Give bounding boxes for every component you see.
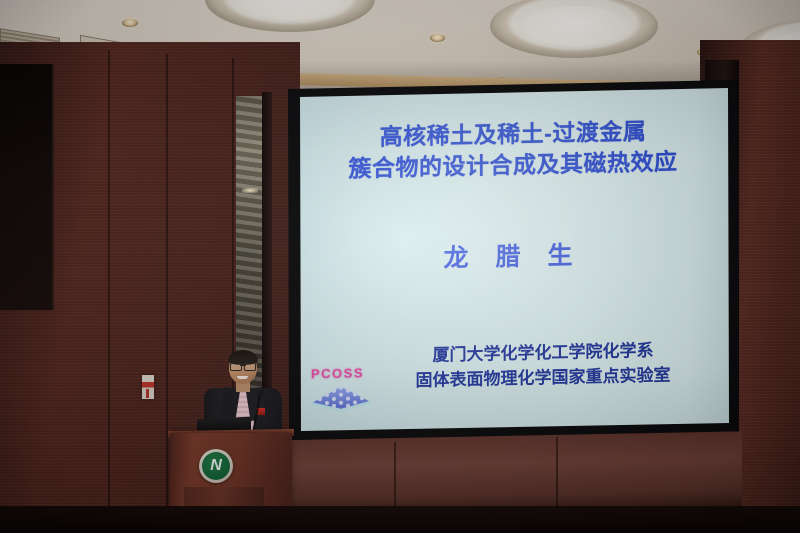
- microphone-head-icon: [258, 390, 264, 396]
- wall-alarm-switch[interactable]: [142, 375, 154, 399]
- cove-inner-center: [522, 6, 628, 46]
- cove-inner-left: [237, 0, 345, 20]
- floor: [0, 506, 800, 533]
- ceiling-cove-left: [205, 0, 375, 32]
- conference-hall-photo: 高核稀土及稀土-过渡金属 簇合物的设计合成及其磁热效应 龙 腊 生 厦门大学化学…: [0, 0, 800, 533]
- panel-seam-1: [108, 50, 110, 530]
- screen-light-falloff: [287, 79, 739, 440]
- emblem-disc: N: [202, 452, 230, 480]
- lower-panel-seam-1: [394, 442, 396, 516]
- lower-panel-seam-2: [556, 437, 558, 513]
- alcove-light: [242, 188, 258, 193]
- university-emblem: N: [199, 449, 233, 483]
- mouth: [237, 376, 248, 379]
- projection-screen[interactable]: 高核稀土及稀土-过渡金属 簇合物的设计合成及其磁热效应 龙 腊 生 厦门大学化学…: [287, 79, 739, 440]
- ceiling-cove-center: [490, 0, 658, 58]
- emblem-glyph: N: [202, 452, 230, 480]
- panel-seam-2: [166, 54, 168, 530]
- eyeglasses-icon: [230, 363, 256, 369]
- wall-dark-panel-left: [0, 64, 54, 310]
- glasses-bridge: [240, 365, 246, 366]
- downlight-2: [430, 34, 445, 42]
- downlight-1: [122, 19, 138, 27]
- wall-alarm-stem: [146, 389, 149, 398]
